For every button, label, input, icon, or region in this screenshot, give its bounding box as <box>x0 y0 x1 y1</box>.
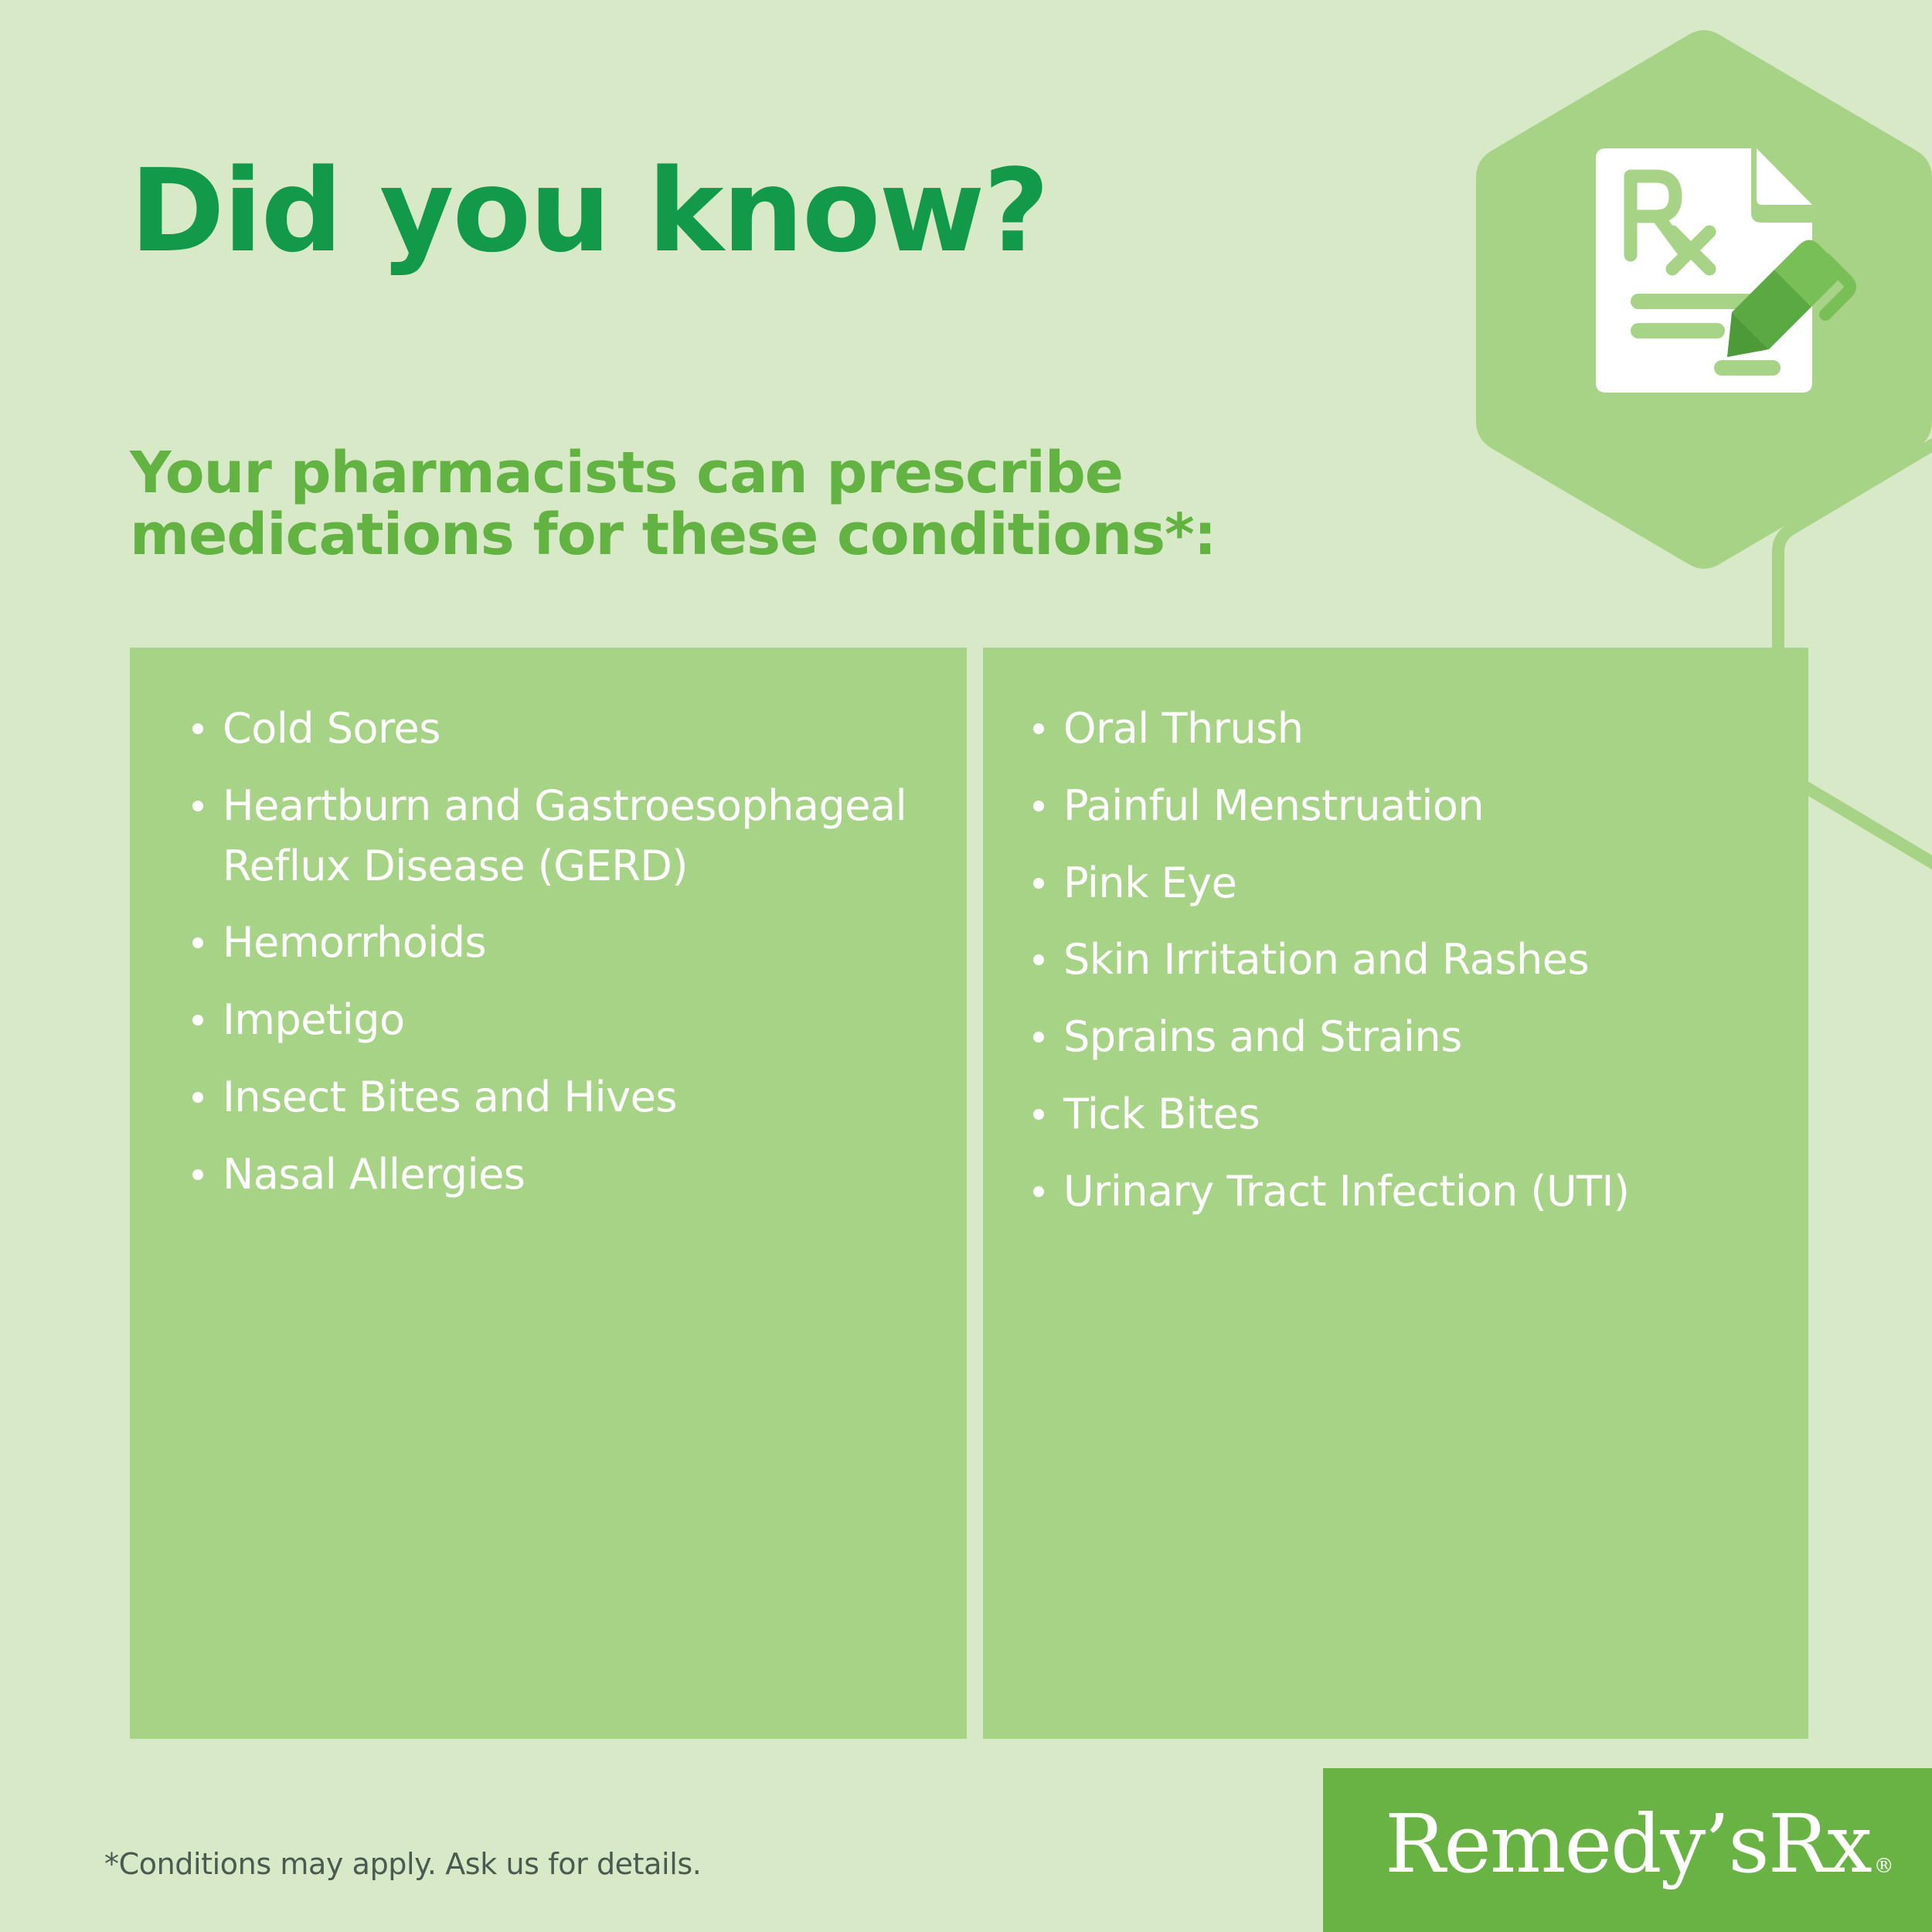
list-item: Heartburn and Gastroesophageal Reflux Di… <box>190 776 932 896</box>
footnote-text: *Conditions may apply. Ask us for detail… <box>104 1847 701 1881</box>
conditions-list-left: Cold Sores Heartburn and Gastroesophagea… <box>190 699 932 1221</box>
condition-label: Impetigo <box>223 995 405 1044</box>
subheading-line-2: medications for these conditions*: <box>130 505 1289 566</box>
bullet-icon <box>1033 723 1044 734</box>
bullet-icon <box>192 723 203 734</box>
list-item: Impetigo <box>190 990 932 1050</box>
condition-label: Tick Bites <box>1063 1090 1260 1138</box>
list-item: Tick Bites <box>1031 1084 1792 1145</box>
list-item: Cold Sores <box>190 699 932 759</box>
bullet-icon <box>1033 1109 1044 1120</box>
condition-label: Painful Menstruation <box>1063 781 1484 830</box>
list-item: Insect Bites and Hives <box>190 1067 932 1128</box>
condition-label: Urinary Tract Infection (UTI) <box>1063 1167 1629 1216</box>
registered-trademark-icon: ® <box>1874 1855 1894 1884</box>
poster-canvas: Did you know? Your pharmacists can presc… <box>0 0 1932 1932</box>
list-item: Pink Eye <box>1031 853 1792 913</box>
list-item: Nasal Allergies <box>190 1145 932 1205</box>
bullet-icon <box>192 1015 203 1026</box>
conditions-panel-right: Oral Thrush Painful Menstruation Pink Ey… <box>983 648 1808 1739</box>
bullet-icon <box>1033 878 1044 889</box>
brand-wordmark: Remedy’sRx <box>1385 1804 1871 1884</box>
list-item: Urinary Tract Infection (UTI) <box>1031 1162 1792 1222</box>
rx-prescription-document-icon <box>1596 148 1850 393</box>
bullet-icon <box>192 1092 203 1103</box>
condition-label: Insect Bites and Hives <box>223 1073 677 1121</box>
list-item: Skin Irritation and Rashes <box>1031 930 1792 990</box>
condition-label: Cold Sores <box>223 704 440 753</box>
list-item: Sprains and Strains <box>1031 1007 1792 1067</box>
bullet-icon <box>1033 1186 1044 1197</box>
bullet-icon <box>1033 954 1044 965</box>
condition-label: Hemorrhoids <box>223 918 486 967</box>
brand-logo-block: Remedy’sRx ® <box>1323 1768 1932 1932</box>
list-item: Hemorrhoids <box>190 913 932 973</box>
subheading: Your pharmacists can prescribe medicatio… <box>130 443 1289 566</box>
condition-label: Skin Irritation and Rashes <box>1063 935 1589 984</box>
condition-label: Heartburn and Gastroesophageal Reflux Di… <box>223 781 906 890</box>
bullet-icon <box>1033 801 1044 811</box>
list-item: Painful Menstruation <box>1031 776 1792 836</box>
condition-label: Nasal Allergies <box>223 1150 525 1199</box>
condition-label: Oral Thrush <box>1063 704 1303 753</box>
condition-label: Sprains and Strains <box>1063 1012 1462 1061</box>
page-title: Did you know? <box>130 154 1048 268</box>
bullet-icon <box>192 937 203 948</box>
list-item: Oral Thrush <box>1031 699 1792 759</box>
condition-label: Pink Eye <box>1063 859 1236 907</box>
bullet-icon <box>192 801 203 811</box>
bullet-icon <box>1033 1032 1044 1043</box>
brand-logo: Remedy’sRx ® <box>1385 1804 1894 1884</box>
bullet-icon <box>192 1169 203 1180</box>
hexagon-shape-filled <box>1476 30 1932 569</box>
subheading-line-1: Your pharmacists can prescribe <box>130 440 1123 506</box>
conditions-list-right: Oral Thrush Painful Menstruation Pink Ey… <box>1031 699 1792 1238</box>
conditions-panel-left: Cold Sores Heartburn and Gastroesophagea… <box>130 648 967 1739</box>
